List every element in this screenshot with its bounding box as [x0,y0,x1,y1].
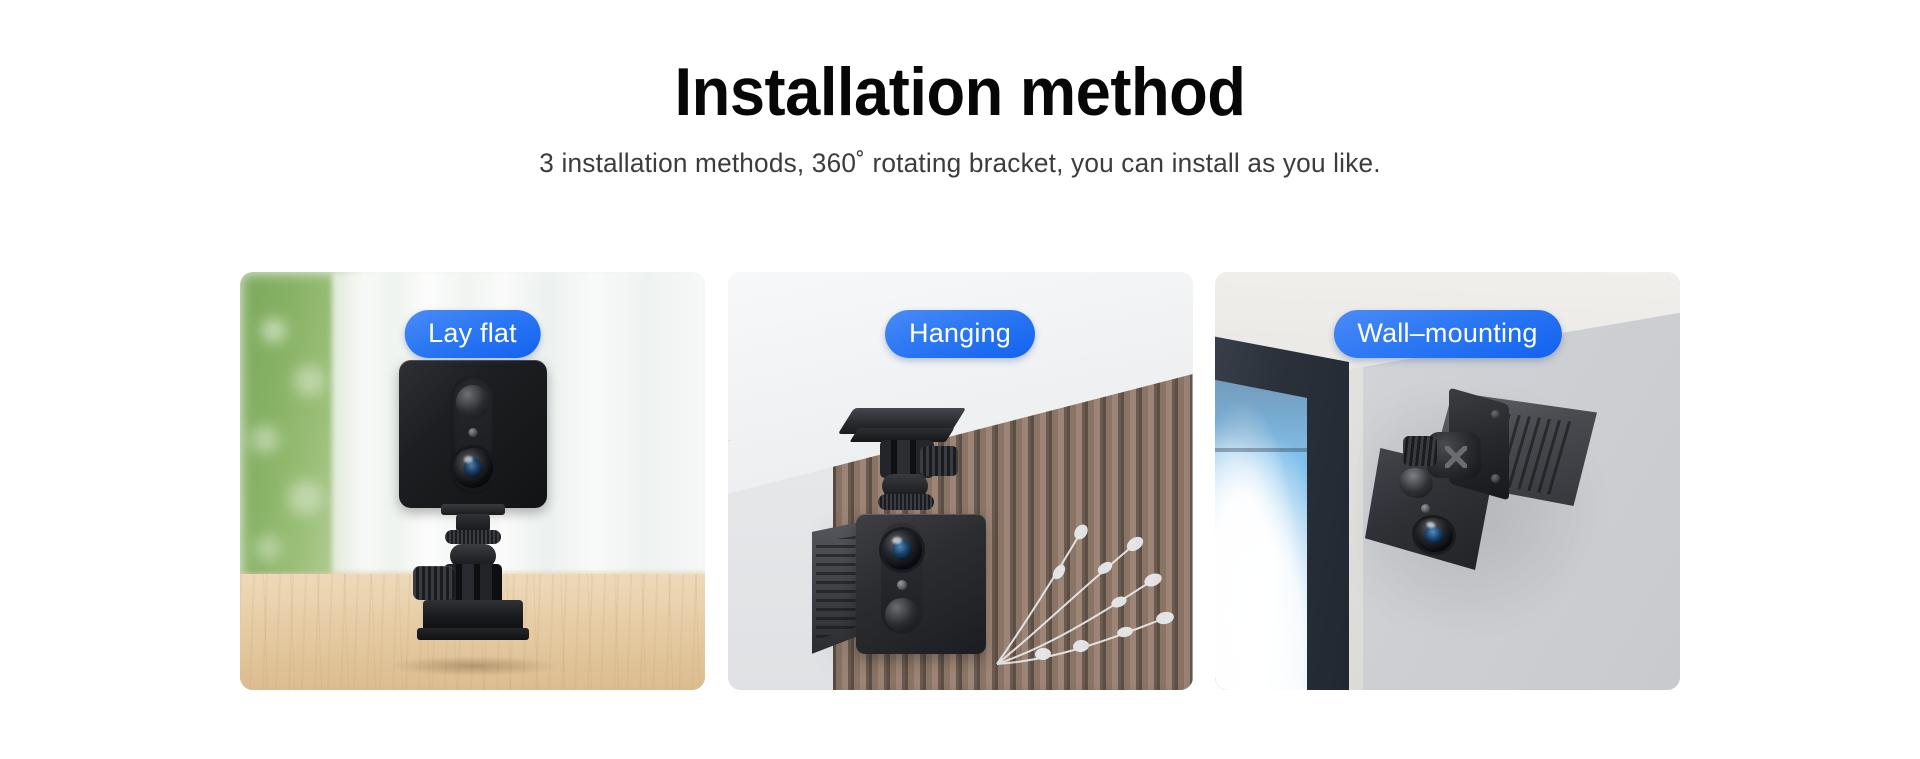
camera-device-hanging [812,508,992,658]
installation-cards-row: Lay flat [240,272,1680,690]
badge-lay-flat[interactable]: Lay flat [404,310,541,358]
pir-sensor-icon [885,598,919,632]
badge-hanging[interactable]: Hanging [885,310,1035,358]
bracket-screw-icon [1491,410,1500,419]
pir-sensor-icon [456,385,490,419]
camera-vent-grille [816,536,856,640]
camera-lens-icon [453,448,493,488]
badge-wall-mounting[interactable]: Wall–mounting [1333,310,1561,358]
mount-thumbscrew-knob [413,566,455,600]
bracket-screw-icon [1491,474,1500,483]
status-led-icon [468,428,477,437]
window-mullion [1215,448,1307,452]
wall-bracket [1405,390,1515,510]
page-subtitle: 3 installation methods, 360˚ rotating br… [29,150,1891,177]
page-header: Installation method 3 installation metho… [0,0,1920,177]
badge-label: Wall–mounting [1357,320,1537,347]
installation-card-wall-mounting[interactable]: Wall–mounting [1215,272,1680,690]
camera-shadow [388,656,558,676]
status-led-icon [897,580,907,590]
bracket-thumbscrew-knob [1403,436,1437,466]
mount-base [423,600,523,634]
installation-card-hanging[interactable]: Hanging [728,272,1193,690]
mount-ring [445,530,501,544]
bracket-thumbscrew-knob [920,446,958,476]
page-title: Installation method [67,58,1853,126]
camera-lens-icon [882,530,922,570]
badge-label: Hanging [909,320,1011,347]
decorative-branches [985,514,1175,674]
badge-label: Lay flat [428,320,517,347]
camera-device-front [399,360,547,508]
bracket-cross-screw-icon [1445,446,1467,468]
installation-card-lay-flat[interactable]: Lay flat [240,272,705,690]
installation-method-page: Installation method 3 installation metho… [0,0,1920,759]
tripod-mount [417,504,529,634]
